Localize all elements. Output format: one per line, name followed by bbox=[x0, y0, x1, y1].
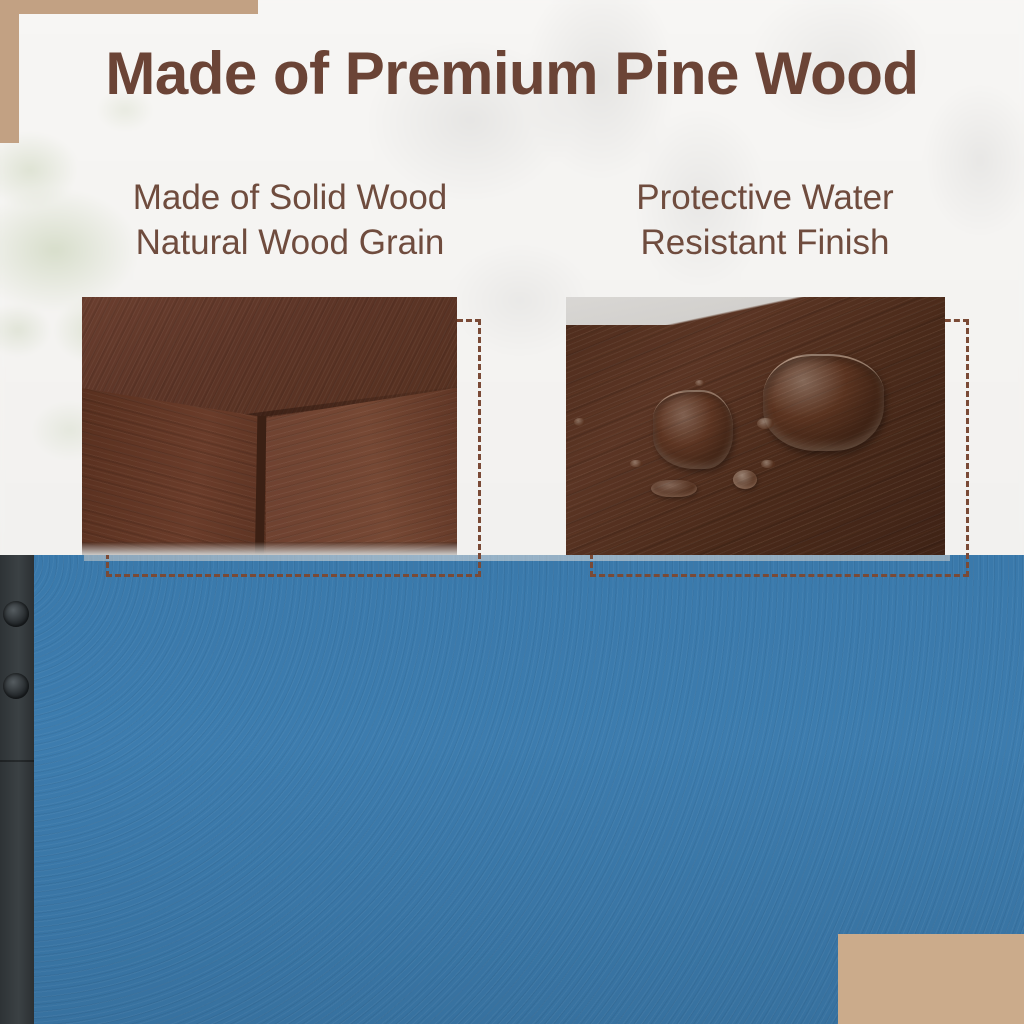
water-droplet-splash bbox=[653, 390, 733, 469]
wood-base-shadow bbox=[82, 542, 457, 555]
water-droplet-small bbox=[761, 460, 775, 469]
feature-caption-line2: Resistant Finish bbox=[545, 221, 985, 266]
floor-speaker bbox=[0, 555, 34, 1024]
water-droplet-small bbox=[574, 418, 585, 426]
speaker-seam bbox=[0, 760, 34, 762]
feature-caption-water-resistant: Protective Water Resistant Finish bbox=[545, 176, 985, 266]
wood-corner-photo bbox=[82, 297, 457, 555]
photo-sky-sliver bbox=[566, 297, 945, 325]
feature-caption-solid-wood: Made of Solid Wood Natural Wood Grain bbox=[60, 176, 520, 266]
speaker-cone bbox=[3, 673, 29, 699]
page-title: Made of Premium Pine Wood bbox=[0, 42, 1024, 105]
water-droplet-small bbox=[695, 380, 705, 386]
feature-caption-line1: Protective Water bbox=[545, 176, 985, 221]
infographic-page: Made of Premium Pine Wood Made of Solid … bbox=[0, 0, 1024, 1024]
feature-image-solid-wood bbox=[82, 297, 457, 555]
water-droplet-photo bbox=[566, 297, 945, 555]
feature-caption-line1: Made of Solid Wood bbox=[60, 176, 520, 221]
water-droplet-large bbox=[763, 354, 884, 451]
wood-left-face bbox=[82, 389, 270, 555]
feature-caption-line2: Natural Wood Grain bbox=[60, 221, 520, 266]
water-droplet-small bbox=[733, 470, 758, 489]
speaker-cone bbox=[3, 601, 29, 627]
corner-accent-top-horizontal bbox=[0, 0, 258, 14]
corner-accent-bottom-right bbox=[838, 934, 1024, 1024]
header-section: Made of Premium Pine Wood Made of Solid … bbox=[0, 0, 1024, 558]
feature-image-water-resistant bbox=[566, 297, 945, 555]
water-droplet-small bbox=[630, 460, 642, 468]
water-droplet-small bbox=[651, 480, 696, 497]
